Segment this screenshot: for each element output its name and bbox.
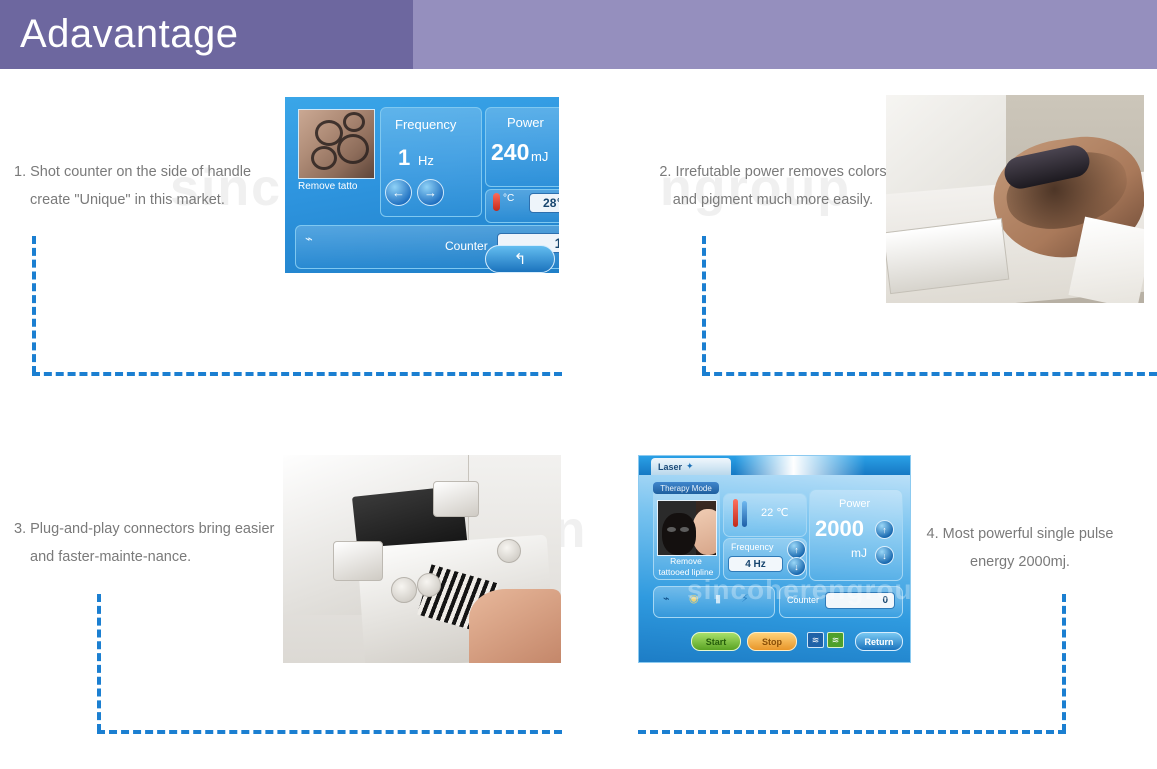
power-value: 2000 bbox=[815, 516, 864, 542]
advantage-caption-2: 2. Irrefutable power removes colors and … bbox=[628, 158, 918, 214]
power-decrease-button[interactable]: ↓ bbox=[875, 546, 894, 565]
advantage-caption-1: 1. Shot counter on the side of handle cr… bbox=[14, 158, 284, 214]
therapy-mode-header: Therapy Mode bbox=[653, 482, 719, 494]
faucet-icon[interactable]: ⌁ bbox=[305, 231, 313, 247]
treatment-photo-pigment-removal bbox=[886, 95, 1144, 303]
frequency-label: Frequency bbox=[731, 542, 774, 552]
counter-label: Counter bbox=[445, 239, 488, 253]
power-increase-button[interactable]: ↑ bbox=[875, 520, 894, 539]
power-value: 240 bbox=[491, 139, 529, 166]
power-unit: mJ bbox=[531, 149, 548, 164]
advantage-page: Adavantage sincoheren ngroup sincoheren … bbox=[0, 0, 1157, 769]
return-arrow-icon: ↰ bbox=[514, 250, 527, 268]
power-label: Power bbox=[839, 498, 870, 510]
start-button[interactable]: Start bbox=[691, 632, 741, 651]
return-button[interactable]: ↰ bbox=[485, 245, 555, 273]
therapy-caption-line1: Remove bbox=[670, 556, 702, 566]
frequency-value: 4 Hz bbox=[728, 556, 783, 572]
frequency-unit: Hz bbox=[418, 153, 434, 168]
thermometer-icon bbox=[742, 501, 747, 527]
caption-line: 4. Most powerful single pulse bbox=[927, 526, 1114, 542]
power-label: Power bbox=[507, 115, 544, 130]
advantage-caption-3: 3. Plug-and-play connectors bring easier… bbox=[14, 515, 289, 571]
tattoo-thumbnail bbox=[298, 109, 375, 179]
dashed-bracket-4-vertical bbox=[1062, 594, 1066, 732]
device-screen-shot-counter: Remove tatto Frequency 1 Hz ← → Power 24… bbox=[283, 95, 561, 275]
screen-watermark: sincoherengroup bbox=[687, 574, 911, 606]
tab-laser[interactable]: Laser ✦ bbox=[651, 458, 731, 475]
dashed-bracket-2-vertical bbox=[702, 236, 706, 374]
caption-line: energy 2000mj. bbox=[890, 548, 1150, 576]
caption-line: and faster-mainte-nance. bbox=[14, 543, 289, 571]
frequency-value: 1 bbox=[398, 145, 410, 171]
advantage-caption-4: 4. Most powerful single pulse energy 200… bbox=[890, 520, 1150, 576]
caption-line: 3. Plug-and-play connectors bring easier bbox=[14, 521, 274, 537]
dashed-bracket-1-horizontal bbox=[32, 372, 562, 376]
faucet-icon[interactable]: ⌁ bbox=[663, 592, 670, 605]
page-title: Adavantage bbox=[20, 10, 239, 58]
caption-line: create "Unique" in this market. bbox=[14, 186, 284, 214]
frequency-decrease-button[interactable]: ← bbox=[385, 179, 412, 206]
dashed-bracket-3-vertical bbox=[97, 594, 101, 732]
laser-icon: ✦ bbox=[686, 461, 694, 472]
thermometer-icon bbox=[493, 193, 500, 211]
tattoo-thumbnail-label: Remove tatto bbox=[298, 181, 357, 192]
temperature-value: 28℃ bbox=[529, 193, 561, 213]
power-unit: mJ bbox=[851, 546, 867, 560]
stop-button[interactable]: Stop bbox=[747, 632, 797, 651]
dashed-bracket-2-horizontal bbox=[702, 372, 1157, 376]
caption-line: 2. Irrefutable power removes colors bbox=[659, 164, 886, 180]
signal-blue-icon[interactable]: ≋ bbox=[807, 632, 824, 648]
thermometer-icon bbox=[733, 499, 738, 527]
dashed-bracket-3-horizontal bbox=[97, 730, 562, 734]
connector-photo-plug-and-play bbox=[283, 455, 561, 663]
temperature-value: 22 ℃ bbox=[761, 506, 789, 519]
therapy-thumbnail bbox=[657, 500, 717, 556]
caption-line: 1. Shot counter on the side of handle bbox=[14, 164, 251, 180]
device-screen-laser-ui: Laser ✦ Therapy Mode Remove tattooed lip… bbox=[638, 455, 911, 663]
signal-green-icon[interactable]: ≋ bbox=[827, 632, 844, 648]
dashed-bracket-4-horizontal bbox=[638, 730, 1066, 734]
caption-line: and pigment much more easily. bbox=[628, 186, 918, 214]
temperature-unit-label: °C bbox=[503, 193, 514, 204]
return-button[interactable]: Return bbox=[855, 632, 903, 651]
page-header: Adavantage bbox=[0, 0, 1157, 69]
tab-laser-label: Laser bbox=[658, 462, 682, 472]
frequency-increase-button[interactable]: → bbox=[417, 179, 444, 206]
frequency-label: Frequency bbox=[395, 117, 456, 132]
dashed-bracket-1-vertical bbox=[32, 236, 36, 374]
